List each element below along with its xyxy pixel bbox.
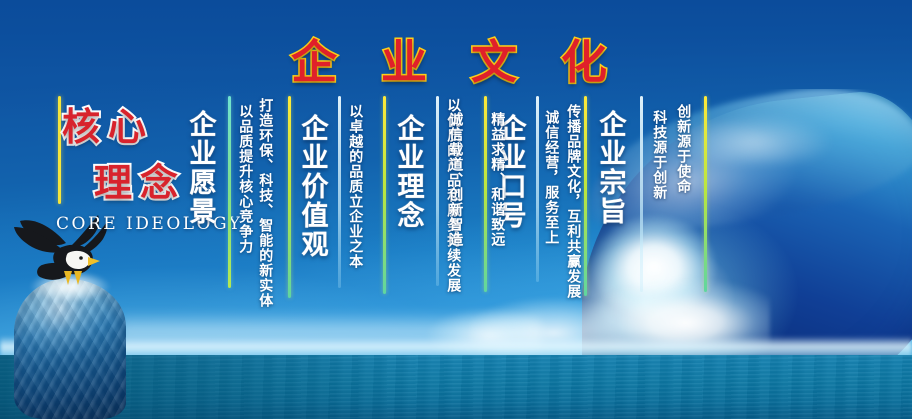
divider-5: [436, 96, 439, 286]
divider-3: [338, 96, 341, 288]
core-ideology-line2: 理念: [94, 152, 186, 207]
divider-1: [228, 96, 231, 288]
column-heading-philosophy: 企业理念: [394, 114, 422, 230]
column-line-purpose-1: 传播品牌文化，互利共赢发展: [566, 104, 580, 299]
column-line-innovation-2: 科技源于创新: [652, 110, 666, 200]
divider-10: [704, 96, 707, 292]
column-heading-values: 企业价值观: [298, 114, 326, 259]
column-line-purpose-2: 诚信经营，服务至上: [544, 110, 558, 245]
column-line-vision-1: 打造环保、科技、智能的新实体: [258, 98, 272, 308]
column-heading-vision: 企业愿景: [186, 110, 214, 226]
column-line-slogan-1: 精益求精、和谐致远: [490, 112, 504, 247]
content-band: 核心 理念 CORE IDEOLOGY 企业愿景 以品质提升核心竞争力 打造环保…: [0, 88, 912, 328]
corporate-culture-poster: 企 业 文 化 核心 理念 CORE IDEOLOGY 企业愿景 以品质提升核心…: [0, 0, 912, 419]
divider-2: [288, 96, 291, 298]
divider-8: [584, 96, 587, 296]
column-line-values-1: 以卓越的品质立企业之本: [348, 104, 362, 269]
column-heading-purpose: 企业宗旨: [596, 110, 624, 226]
divider-6: [484, 96, 487, 292]
column-line-innovation-1: 创新源于使命: [676, 104, 690, 194]
divider-9: [640, 96, 643, 292]
core-ideology-block: 核心 理念 CORE IDEOLOGY: [56, 96, 206, 246]
column-line-vision-2: 以品质提升核心竞争力: [238, 104, 252, 254]
divider-4: [383, 96, 386, 294]
core-ideology-line1: 核心: [62, 96, 154, 151]
column-line-slogan-2: 诚信载道、创新智造: [448, 112, 462, 247]
page-title: 企 业 文 化: [0, 26, 912, 92]
divider-7: [536, 96, 539, 282]
